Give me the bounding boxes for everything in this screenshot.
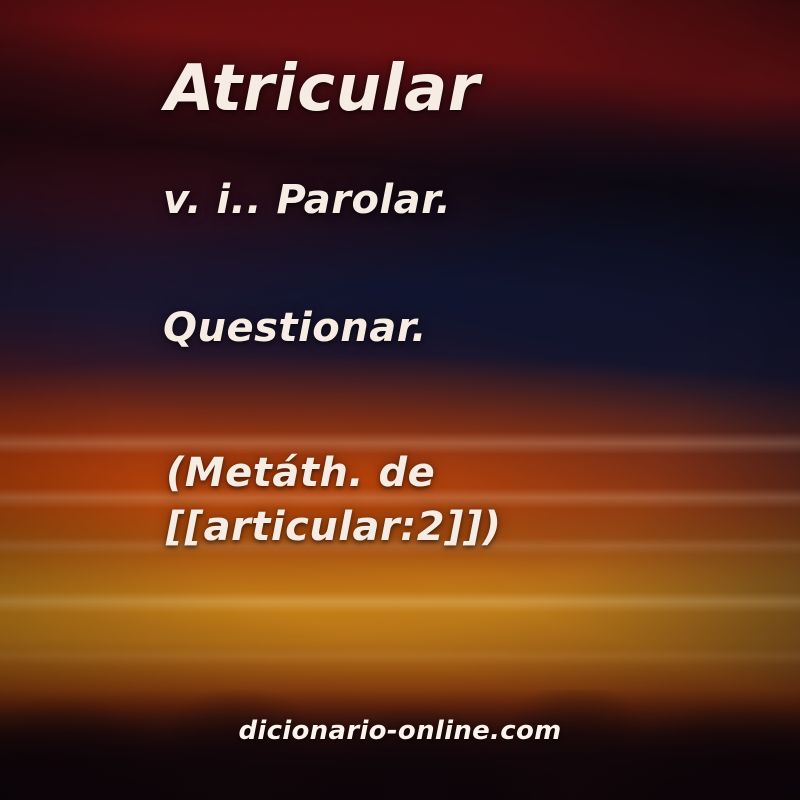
sense-definition-2: Questionar. bbox=[163, 306, 427, 351]
sense-definition-1: v. i.. Parolar. bbox=[163, 178, 451, 223]
entry-content: Atricular v. i.. Parolar. Questionar. (M… bbox=[0, 0, 800, 800]
dictionary-entry-card: Atricular v. i.. Parolar. Questionar. (M… bbox=[0, 0, 800, 800]
site-credit: dicionario-online.com bbox=[0, 716, 800, 746]
etymology-note: (Metáth. de [[articular:2]]) bbox=[166, 446, 586, 554]
headword: Atricular bbox=[165, 56, 480, 123]
